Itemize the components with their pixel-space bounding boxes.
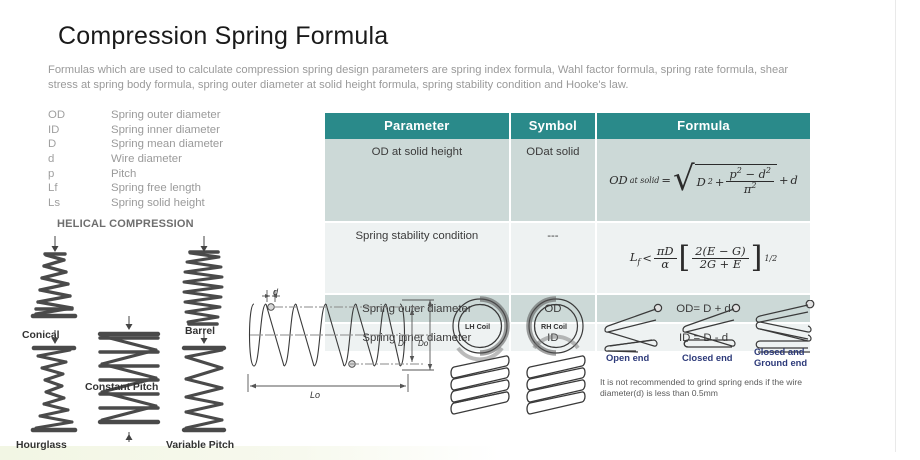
spring-open-end-icon xyxy=(605,304,662,352)
end-type-label-open: Open end xyxy=(606,352,649,363)
abbr-symbol: Lf xyxy=(48,182,111,194)
math-plus: + xyxy=(715,175,725,189)
abbr-symbol: d xyxy=(48,153,111,165)
abbr-description: Spring solid height xyxy=(111,197,205,209)
spring-variable-pitch-icon xyxy=(184,348,224,430)
cell-formula-od-at-solid: ODat solid = √ D2 + p2 − d2 π2 xyxy=(596,139,810,222)
dimension-label-do: Do xyxy=(418,339,428,348)
cell-parameter: Spring stability condition xyxy=(325,222,510,294)
math-subscript-f: f xyxy=(637,257,640,266)
end-type-label-closed-ground: Closed and Ground end xyxy=(754,346,807,368)
formula-od-at-solid: ODat solid = √ D2 + p2 − d2 π2 xyxy=(609,164,798,196)
math-D: D xyxy=(664,244,673,258)
math-sqrt: √ D2 + p2 − d2 π2 xyxy=(673,164,777,196)
math-d: d xyxy=(791,173,798,187)
page-right-rule xyxy=(895,0,896,452)
rh-coil-side-view-icon xyxy=(527,356,585,414)
radical-icon: √ xyxy=(673,164,695,196)
formula-stability-condition: Lf < πD α [ 2(E − G) 2G + E ]1/2 xyxy=(630,246,777,271)
slide-canvas: Compression Spring Formula Formulas whic… xyxy=(0,0,920,460)
math-Lf: Lf xyxy=(630,250,641,266)
end-type-label-line1: Closed and xyxy=(754,346,805,357)
column-header-symbol: Symbol xyxy=(510,113,596,139)
math-radicand: D2 + p2 − d2 π2 xyxy=(695,164,777,196)
list-item: p Pitch xyxy=(48,168,318,183)
column-header-formula: Formula xyxy=(596,113,810,139)
list-item: d Wire diameter xyxy=(48,153,318,168)
bottom-green-tint xyxy=(0,446,500,460)
abbr-symbol: OD xyxy=(48,109,111,121)
coil-label-lh: LH Coil xyxy=(465,322,490,331)
abbr-description: Spring free length xyxy=(111,182,201,194)
abbr-symbol: p xyxy=(48,168,111,180)
list-item: D Spring mean diameter xyxy=(48,138,318,153)
lh-coil-side-view-icon xyxy=(451,356,509,414)
dimension-lo xyxy=(248,374,408,392)
abbr-description: Spring mean diameter xyxy=(111,138,223,150)
abbr-description: Spring outer diameter xyxy=(111,109,221,121)
figure-label-hourglass: Hourglass xyxy=(16,440,67,451)
figure-label-constant-pitch: Constant Pitch xyxy=(85,382,158,393)
spring-closed-end-icon xyxy=(683,304,740,347)
spring-constant-pitch-icon xyxy=(100,334,158,422)
end-type-label-closed: Closed end xyxy=(682,352,733,363)
coil-handedness-diagram xyxy=(444,296,594,421)
list-item: Lf Spring free length xyxy=(48,182,318,197)
grinding-note: It is not recommended to grind spring en… xyxy=(600,377,815,399)
column-header-parameter: Parameter xyxy=(325,113,510,139)
table-header-row: Parameter Symbol Formula xyxy=(325,113,810,139)
math-exp-2: 2 xyxy=(766,166,771,175)
dimension-label-d: d xyxy=(273,287,278,297)
helical-compression-heading: HELICAL COMPRESSION xyxy=(57,218,194,230)
math-exp-2: 2 xyxy=(751,181,756,190)
math-exponent-half: 1/2 xyxy=(764,254,777,263)
list-item: OD Spring outer diameter xyxy=(48,109,318,124)
table-row: OD at solid height ODat solid ODat solid… xyxy=(325,139,810,222)
dimension-label-di: Di xyxy=(398,339,406,348)
table-row: Spring stability condition --- Lf < πD α… xyxy=(325,222,810,294)
cell-parameter: OD at solid height xyxy=(325,139,510,222)
cell-formula-stability: Lf < πD α [ 2(E − G) 2G + E ]1/2 xyxy=(596,222,810,294)
spring-closed-ground-end-icon xyxy=(756,300,814,352)
page-title: Compression Spring Formula xyxy=(58,22,388,51)
math-fraction: πD α xyxy=(654,246,677,271)
abbr-description: Pitch xyxy=(111,168,136,180)
dimension-label-lo: Lo xyxy=(310,390,320,400)
math-subscript-at-solid: at solid xyxy=(630,176,660,185)
math-minus: − xyxy=(745,167,755,181)
cell-symbol: --- xyxy=(510,222,596,294)
cell-symbol: ODat solid xyxy=(510,139,596,222)
end-type-label-line2: Ground end xyxy=(754,357,807,368)
math-plus: + xyxy=(779,173,789,187)
fraction-denominator: α xyxy=(658,259,672,271)
abbr-symbol: ID xyxy=(48,124,111,136)
figure-label-barrel: Barrel xyxy=(185,326,215,337)
spring-hourglass-icon xyxy=(33,348,75,430)
bracket-open-icon: [ xyxy=(679,246,691,271)
math-p: p xyxy=(729,167,736,181)
math-less-than: < xyxy=(642,251,652,265)
math-d: d xyxy=(759,167,766,181)
abbr-description: Spring inner diameter xyxy=(111,124,220,136)
fraction-denominator: π2 xyxy=(741,182,760,196)
math-D: D xyxy=(697,175,706,189)
abbreviation-list: OD Spring outer diameter ID Spring inner… xyxy=(48,109,318,212)
spring-barrel-icon xyxy=(184,252,222,324)
math-fraction: p2 − d2 π2 xyxy=(726,167,774,196)
abbr-symbol: D xyxy=(48,138,111,150)
fraction-numerator: p2 − d2 xyxy=(726,167,774,182)
abbr-description: Wire diameter xyxy=(111,153,182,165)
coil-label-rh: RH Coil xyxy=(541,322,567,331)
abbr-symbol: Ls xyxy=(48,197,111,209)
spring-dimension-diagram xyxy=(240,288,440,408)
math-exp-2: 2 xyxy=(737,166,742,175)
math-od: OD xyxy=(609,173,627,187)
math-fraction: 2(E − G) 2G + E xyxy=(692,246,748,271)
figure-label-variable-pitch: Variable Pitch xyxy=(166,440,234,451)
list-item: Ls Spring solid height xyxy=(48,197,318,212)
figure-label-conical: Conical xyxy=(22,330,60,341)
wire-section-top xyxy=(268,304,275,311)
fraction-denominator: 2G + E xyxy=(697,259,744,271)
math-exp-2: 2 xyxy=(708,177,713,186)
intro-paragraph: Formulas which are used to calculate com… xyxy=(48,63,818,94)
bracket-close-icon: ] xyxy=(751,246,763,271)
list-item: ID Spring inner diameter xyxy=(48,124,318,139)
math-equals: = xyxy=(661,173,671,187)
spring-conical-icon xyxy=(33,254,75,316)
